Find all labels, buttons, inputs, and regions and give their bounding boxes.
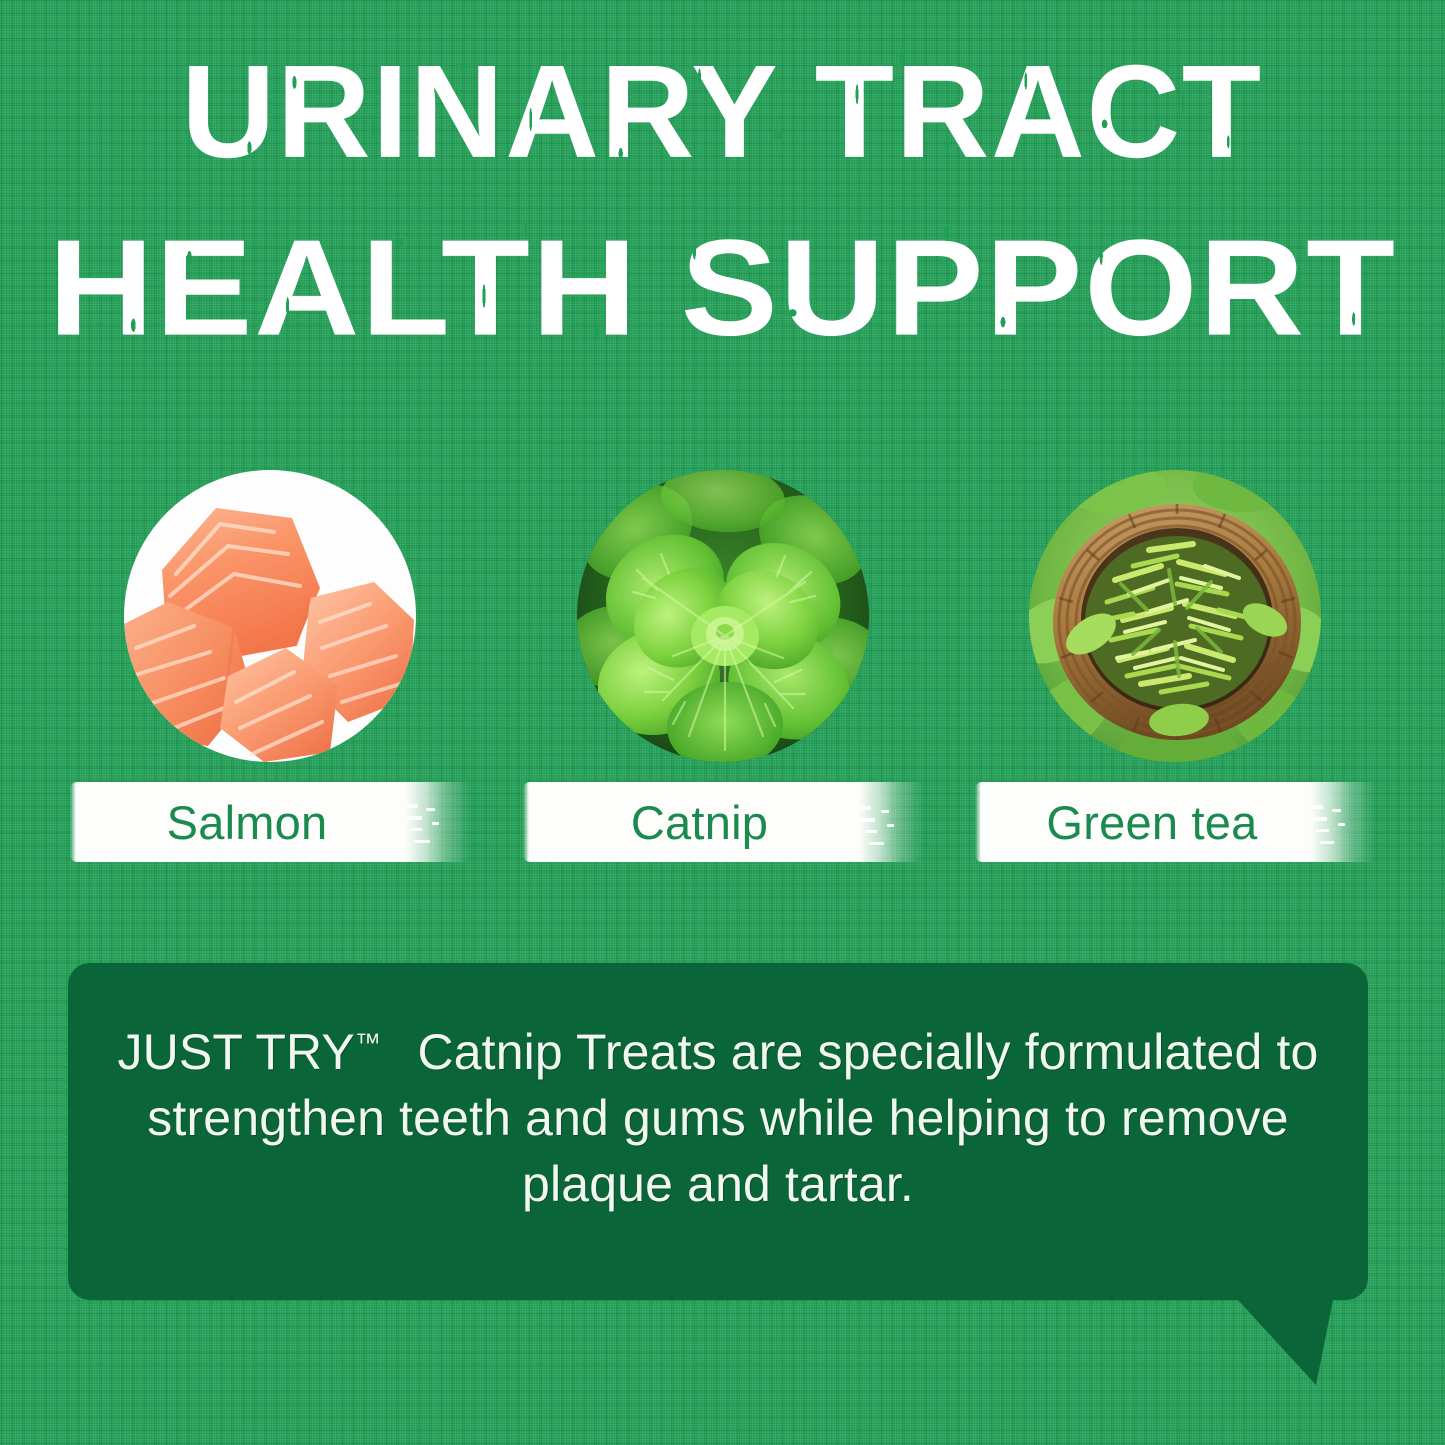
- ingredient-item-catnip: Catnip: [523, 470, 923, 862]
- catnip-leaves-photo: [577, 470, 869, 762]
- callout-text: JUST TRY™ Catnip Treats are specially fo…: [114, 1019, 1322, 1217]
- ingredient-banner-green-tea: Green tea: [975, 782, 1375, 862]
- green-tea-basket-photo: [1029, 470, 1321, 762]
- ingredient-banner-catnip: Catnip: [523, 782, 923, 862]
- product-feature-poster: URINARY TRACT HEALTH SUPPORT: [0, 0, 1445, 1445]
- ingredient-item-green-tea: Green tea: [975, 470, 1375, 862]
- trademark-symbol: ™: [355, 1027, 381, 1057]
- page-title: URINARY TRACT HEALTH SUPPORT: [0, 46, 1445, 332]
- ingredient-item-salmon: Salmon: [70, 470, 470, 862]
- ingredient-list: Salmon: [70, 470, 1375, 862]
- ingredient-label-catnip: Catnip: [523, 795, 923, 850]
- callout-speech-bubble: JUST TRY™ Catnip Treats are specially fo…: [68, 963, 1368, 1385]
- ingredient-label-salmon: Salmon: [70, 795, 470, 850]
- headline-line-1: URINARY TRACT: [182, 46, 1263, 178]
- ingredient-banner-salmon: Salmon: [70, 782, 470, 862]
- callout-brand: JUST TRY: [118, 1024, 355, 1080]
- salmon-chunks-photo: [124, 470, 416, 762]
- headline-line-2: HEALTH SUPPORT: [48, 220, 1396, 357]
- ingredient-label-green-tea: Green tea: [975, 795, 1375, 850]
